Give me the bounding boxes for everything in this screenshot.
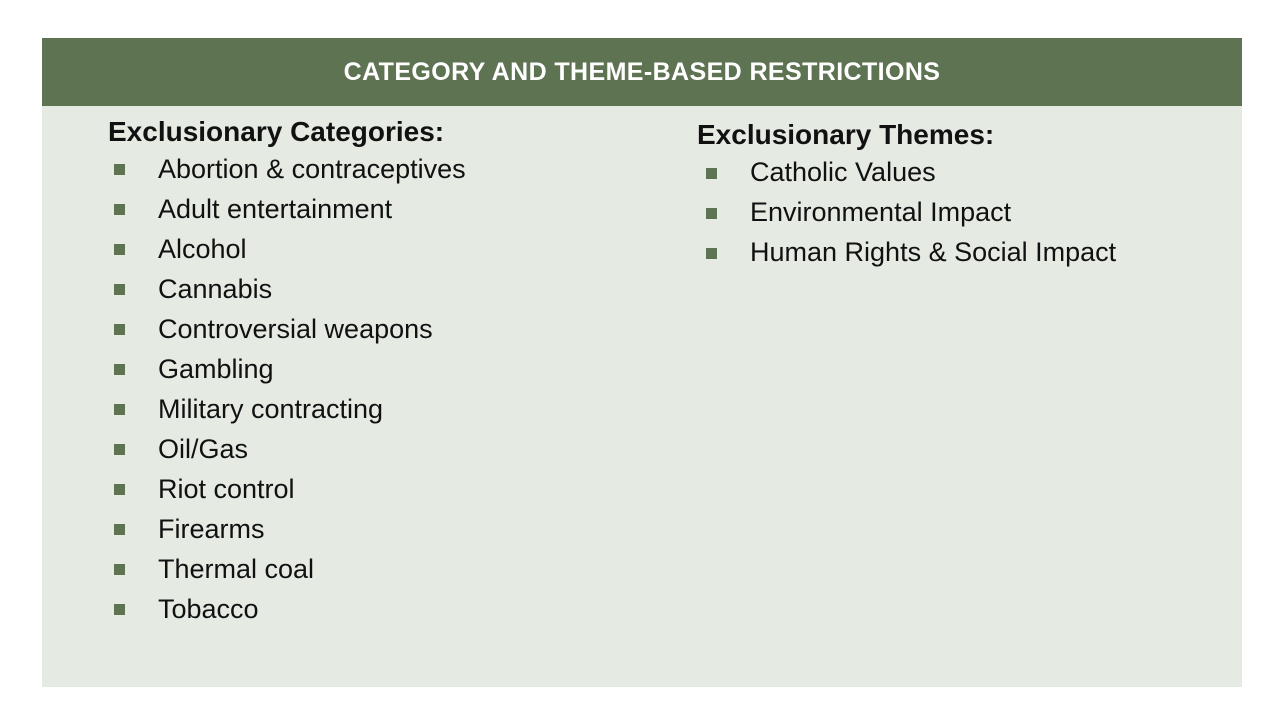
list-item-label: Environmental Impact [750,192,1157,232]
square-bullet-icon [114,524,125,535]
list-item-label: Firearms [158,509,668,549]
square-bullet-icon [706,208,717,219]
exclusionary-themes-list: Catholic Values Environmental Impact Hum… [697,152,1157,272]
square-bullet-icon [706,168,717,179]
list-item: Cannabis [108,269,668,309]
list-item: Firearms [108,509,668,549]
square-bullet-icon [114,244,125,255]
list-item-label: Alcohol [158,229,668,269]
column-heading-themes: Exclusionary Themes: [697,106,1157,152]
square-bullet-icon [114,284,125,295]
list-item-label: Human Rights & Social Impact [750,232,1157,272]
column-heading-categories: Exclusionary Categories: [108,106,668,149]
square-bullet-icon [114,444,125,455]
list-item-label: Thermal coal [158,549,668,589]
list-item: Adult entertainment [108,189,668,229]
list-item-label: Abortion & contraceptives [158,149,668,189]
list-item: Riot control [108,469,668,509]
slide-body: Exclusionary Categories: Abortion & cont… [42,106,1242,687]
list-item: Alcohol [108,229,668,269]
list-item: Oil/Gas [108,429,668,469]
list-item: Abortion & contraceptives [108,149,668,189]
list-item-label: Oil/Gas [158,429,668,469]
list-item: Human Rights & Social Impact [697,232,1157,272]
slide-header-bar: Category and Theme-Based Restrictions [42,38,1242,106]
square-bullet-icon [706,248,717,259]
list-item: Controversial weapons [108,309,668,349]
list-item: Catholic Values [697,152,1157,192]
square-bullet-icon [114,324,125,335]
exclusionary-categories-list: Abortion & contraceptives Adult entertai… [108,149,668,629]
column-exclusionary-themes: Exclusionary Themes: Catholic Values Env… [697,106,1157,272]
list-item: Thermal coal [108,549,668,589]
list-item: Gambling [108,349,668,389]
slide: Category and Theme-Based Restrictions Ex… [42,38,1242,687]
square-bullet-icon [114,484,125,495]
list-item-label: Riot control [158,469,668,509]
slide-title: Category and Theme-Based Restrictions [344,60,941,85]
square-bullet-icon [114,204,125,215]
list-item-label: Cannabis [158,269,668,309]
list-item-label: Catholic Values [750,152,1157,192]
list-item-label: Controversial weapons [158,309,668,349]
square-bullet-icon [114,164,125,175]
square-bullet-icon [114,364,125,375]
list-item-label: Gambling [158,349,668,389]
list-item-label: Military contracting [158,389,668,429]
list-item: Military contracting [108,389,668,429]
list-item-label: Adult entertainment [158,189,668,229]
square-bullet-icon [114,564,125,575]
list-item: Environmental Impact [697,192,1157,232]
column-exclusionary-categories: Exclusionary Categories: Abortion & cont… [108,106,668,629]
list-item-label: Tobacco [158,589,668,629]
list-item: Tobacco [108,589,668,629]
square-bullet-icon [114,404,125,415]
square-bullet-icon [114,604,125,615]
